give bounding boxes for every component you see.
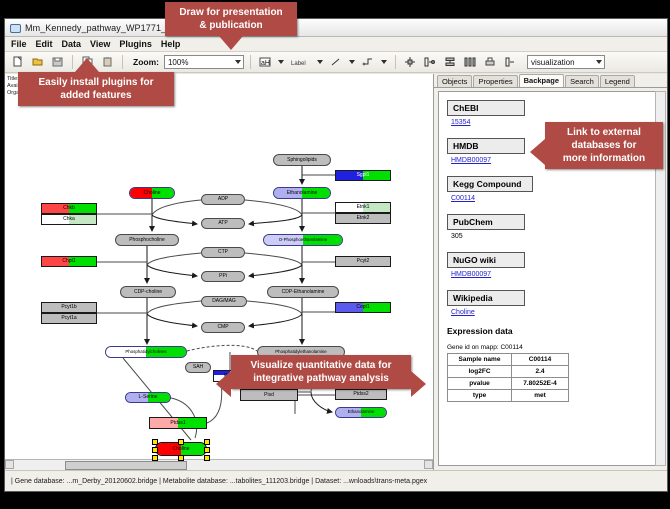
node-l-serine-left[interactable]: L-Serine <box>125 392 171 403</box>
table-row: Sample name C00114 <box>448 354 569 366</box>
db-header-wikipedia: Wikipedia <box>447 290 525 306</box>
paste-icon[interactable] <box>99 54 116 71</box>
status-bar-text: | Gene database: ...m_Derby_20120602.bri… <box>5 478 427 485</box>
node-label: L-Serine <box>139 395 158 400</box>
align-icon[interactable] <box>402 54 419 71</box>
node-ctp[interactable]: CTP <box>201 247 245 258</box>
node-label: PPi <box>219 274 227 279</box>
node-label: SAH <box>193 365 203 370</box>
node-ptdss2[interactable]: Ptdss2 <box>335 389 387 400</box>
node-label: Ptdss1 <box>170 421 185 426</box>
node-label: Etnk2 <box>357 216 370 221</box>
toolbar-separator <box>72 55 73 69</box>
chevron-down-icon[interactable] <box>278 60 284 64</box>
node-pisd[interactable]: Pisd <box>240 389 298 401</box>
node-label: CDP-Ethanolamine <box>282 290 325 295</box>
tab-objects[interactable]: Objects <box>437 75 472 87</box>
plugins-callout-line2: added features <box>24 89 168 102</box>
visualize-callout-arrow-left <box>216 371 231 397</box>
node-etnk1[interactable]: Etnk1 <box>335 202 391 213</box>
table-cell-key: Sample name <box>448 354 512 366</box>
visualize-callout-arrow-right <box>411 371 426 397</box>
db-link-kegg[interactable]: C00114 <box>451 195 648 202</box>
node-label: Pcyt2 <box>357 259 370 264</box>
group-icon[interactable] <box>422 54 439 71</box>
node-label: Phosphatidylethanolamine <box>275 350 327 354</box>
db-link-wikipedia[interactable]: Choline <box>451 309 648 316</box>
chevron-down-icon[interactable] <box>317 60 323 64</box>
tab-backpage[interactable]: Backpage <box>519 74 564 87</box>
line-icon[interactable] <box>328 54 345 71</box>
node-sgpl1[interactable]: Sgpl1 <box>335 170 391 181</box>
menu-item-edit[interactable]: Edit <box>36 39 53 49</box>
node-label: Pcyt1a <box>61 316 76 321</box>
links-callout: Link to external databases for more info… <box>545 122 663 169</box>
node-label: Etnk1 <box>357 205 370 210</box>
draw-callout: Draw for presentation & publication <box>165 2 297 36</box>
node-label: O-Phosphoethanolamine <box>279 238 328 242</box>
node-label: Choline <box>173 447 190 452</box>
svg-text:Label: Label <box>291 61 306 67</box>
node-adp[interactable]: ADP <box>201 194 245 205</box>
print-icon[interactable] <box>482 54 499 71</box>
scroll-left-icon[interactable] <box>5 460 14 469</box>
node-choline[interactable]: Choline <box>129 187 175 199</box>
toolbar-separator <box>395 55 396 69</box>
selection-handle[interactable] <box>204 455 210 461</box>
tab-properties[interactable]: Properties <box>473 75 517 87</box>
expression-data-title: Expression data <box>447 326 648 336</box>
node-cdp-ethanolamine[interactable]: CDP-Ethanolamine <box>267 286 339 298</box>
menu-item-data[interactable]: Data <box>62 39 82 49</box>
db-header-pubchem: PubChem <box>447 214 525 230</box>
selection-handle[interactable] <box>204 447 210 453</box>
tab-legend[interactable]: Legend <box>600 75 635 87</box>
plugins-callout-arrow <box>75 58 99 72</box>
pathvisio-icon <box>9 22 20 33</box>
open-icon[interactable] <box>29 54 46 71</box>
label-icon[interactable]: Label <box>289 54 313 71</box>
node-label: Sgpl1 <box>357 173 370 178</box>
node-dagmag[interactable]: DAG/MAG <box>201 296 247 307</box>
node-pcyt1a[interactable]: Pcyt1a <box>41 313 97 324</box>
node-chpt1[interactable]: Chpt1 <box>41 256 97 267</box>
db-header-nugo: NuGO wiki <box>447 252 525 268</box>
canvas-hscrollbar[interactable] <box>5 459 433 470</box>
links-callout-line2: databases for <box>551 139 657 152</box>
menu-item-help[interactable]: Help <box>161 39 181 49</box>
node-chka[interactable]: Chka <box>41 214 97 225</box>
node-cmp[interactable]: CMP <box>201 322 245 333</box>
table-row: log2FC 2.4 <box>448 366 569 378</box>
links-callout-arrow <box>530 139 545 165</box>
node-label: Ethanolamine <box>348 410 375 414</box>
pathway-canvas[interactable]: Title: Availa Organi <box>5 74 434 470</box>
links-callout-line1: Link to external <box>551 126 657 139</box>
scroll-right-icon[interactable] <box>424 460 433 469</box>
draw-callout-line2: & publication <box>171 19 291 32</box>
node-phosphocholine[interactable]: Phosphocholine <box>115 234 179 246</box>
node-label: DAG/MAG <box>212 299 236 304</box>
node-label: ATP <box>218 221 227 226</box>
draw-callout-line1: Draw for presentation <box>171 6 291 19</box>
node-ppi[interactable]: PPi <box>201 271 245 282</box>
tab-search[interactable]: Search <box>565 75 599 87</box>
gene-id-on-mapp: Gene id on mapp: C00114 <box>447 344 648 351</box>
connector-icon[interactable] <box>360 54 377 71</box>
node-label: CTP <box>218 250 228 255</box>
table-cell-value: 2.4 <box>512 366 569 378</box>
node-label: Chkb <box>63 206 75 211</box>
node-sah[interactable]: SAH <box>185 362 211 373</box>
canvas-hscroll-thumb[interactable] <box>65 461 187 470</box>
table-cell-value: 7.80252E-4 <box>512 378 569 390</box>
save-icon[interactable] <box>49 54 66 71</box>
zoom-combo[interactable]: 100% <box>164 55 244 69</box>
chevron-down-icon[interactable] <box>349 60 355 64</box>
table-cell-key: log2FC <box>448 366 512 378</box>
node-label: Ptdss2 <box>353 392 368 397</box>
node-label: Pcyt1b <box>61 305 76 310</box>
expression-data-table: Sample name C00114 log2FC 2.4 pvalue 7.8… <box>447 353 569 402</box>
selection-handle[interactable] <box>178 439 184 445</box>
node-pcyt2[interactable]: Pcyt2 <box>335 256 391 267</box>
table-row: pvalue 7.80252E-4 <box>448 378 569 390</box>
toolbar-separator <box>122 55 123 69</box>
node-label: Phosphatidylcholines <box>125 350 166 354</box>
menu-bar: File Edit Data View Plugins Help <box>5 37 667 52</box>
node-label: Pisd <box>264 393 274 398</box>
node-label: CDP-choline <box>134 290 162 295</box>
screenshot-root: Mm_Kennedy_pathway_WP1771_45176.gpml Fil… <box>0 0 670 509</box>
node-label: Cept1 <box>356 305 369 310</box>
node-ethanolamine[interactable]: Ethanolamine <box>273 187 331 199</box>
table-cell-key: type <box>448 390 512 402</box>
table-row: type met <box>448 390 569 402</box>
selection-handle[interactable] <box>204 439 210 445</box>
menu-item-view[interactable]: View <box>90 39 110 49</box>
plugins-callout-line1: Easily install plugins for <box>24 76 168 89</box>
node-sphingolipids[interactable]: Sphingolipids <box>273 154 331 166</box>
menu-item-file[interactable]: File <box>11 39 27 49</box>
zoom-label: Zoom: <box>133 57 159 67</box>
node-atp[interactable]: ATP <box>201 218 245 229</box>
selection-handle[interactable] <box>152 447 158 453</box>
table-cell-value: C00114 <box>512 354 569 366</box>
visualization-combo[interactable]: visualization <box>527 55 605 69</box>
chevron-down-icon <box>596 60 602 64</box>
links-callout-line3: more information <box>551 152 657 165</box>
table-cell-key: pvalue <box>448 378 512 390</box>
side-panel-tabs: Objects Properties Backpage Search Legen… <box>434 74 667 88</box>
toolbar-separator <box>250 55 251 69</box>
status-bar: | Gene database: ...m_Derby_20120602.bri… <box>5 470 667 491</box>
node-label: Ethanolamine <box>287 191 318 196</box>
node-pcyt1b[interactable]: Pcyt1b <box>41 302 97 313</box>
node-label: CMP <box>217 325 228 330</box>
db-link-nugo[interactable]: HMDB00097 <box>451 271 648 278</box>
node-cept1[interactable]: Cept1 <box>335 302 391 313</box>
db-header-hmdb: HMDB <box>447 138 525 154</box>
selection-handle[interactable] <box>178 455 184 461</box>
stack-icon[interactable] <box>442 54 459 71</box>
plugins-callout: Easily install plugins for added feature… <box>18 72 174 106</box>
svg-text:aH: aH <box>261 60 270 67</box>
node-chkb[interactable]: Chkb <box>41 203 97 214</box>
visualize-callout-line1: Visualize quantitative data for <box>237 359 405 372</box>
node-label: Sphingolipids <box>287 158 317 163</box>
db-value-pubchem: 305 <box>451 233 648 240</box>
node-label: ADP <box>218 197 228 202</box>
visualize-callout-line2: integrative pathway analysis <box>237 372 405 385</box>
node-o-phosphoethanolamine[interactable]: O-Phosphoethanolamine <box>263 234 343 246</box>
db-header-kegg: Kegg Compound <box>447 176 533 192</box>
new-icon[interactable] <box>9 54 26 71</box>
node-ethanolamine-right[interactable]: Ethanolamine <box>335 407 387 418</box>
distribute-icon[interactable] <box>462 54 479 71</box>
node-label: Choline <box>144 191 161 196</box>
zoom-value: 100% <box>168 58 188 67</box>
table-cell-value: met <box>512 390 569 402</box>
db-header-chebi: ChEBI <box>447 100 525 116</box>
layout-icon[interactable] <box>502 54 519 71</box>
node-phosphatidylcholines[interactable]: Phosphatidylcholines <box>105 346 187 358</box>
node-label: Chpt1 <box>62 259 75 264</box>
selection-handle[interactable] <box>152 439 158 445</box>
node-label: Phosphocholine <box>129 238 165 243</box>
chevron-down-icon[interactable] <box>381 60 387 64</box>
node-cdp-choline[interactable]: CDP-choline <box>120 286 176 298</box>
node-ptdss1[interactable]: Ptdss1 <box>149 417 207 429</box>
visualization-value: visualization <box>531 58 575 67</box>
selection-handle[interactable] <box>152 455 158 461</box>
font-icon[interactable]: aH <box>257 54 274 71</box>
visualize-callout: Visualize quantitative data for integrat… <box>231 355 411 389</box>
chevron-down-icon <box>235 60 241 64</box>
draw-callout-arrow <box>219 36 243 50</box>
title-bar: Mm_Kennedy_pathway_WP1771_45176.gpml <box>5 19 667 37</box>
menu-item-plugins[interactable]: Plugins <box>119 39 152 49</box>
toolbar: Zoom: 100% aH Label <box>5 52 667 73</box>
node-etnk2[interactable]: Etnk2 <box>335 213 391 224</box>
node-label: Chka <box>63 217 75 222</box>
